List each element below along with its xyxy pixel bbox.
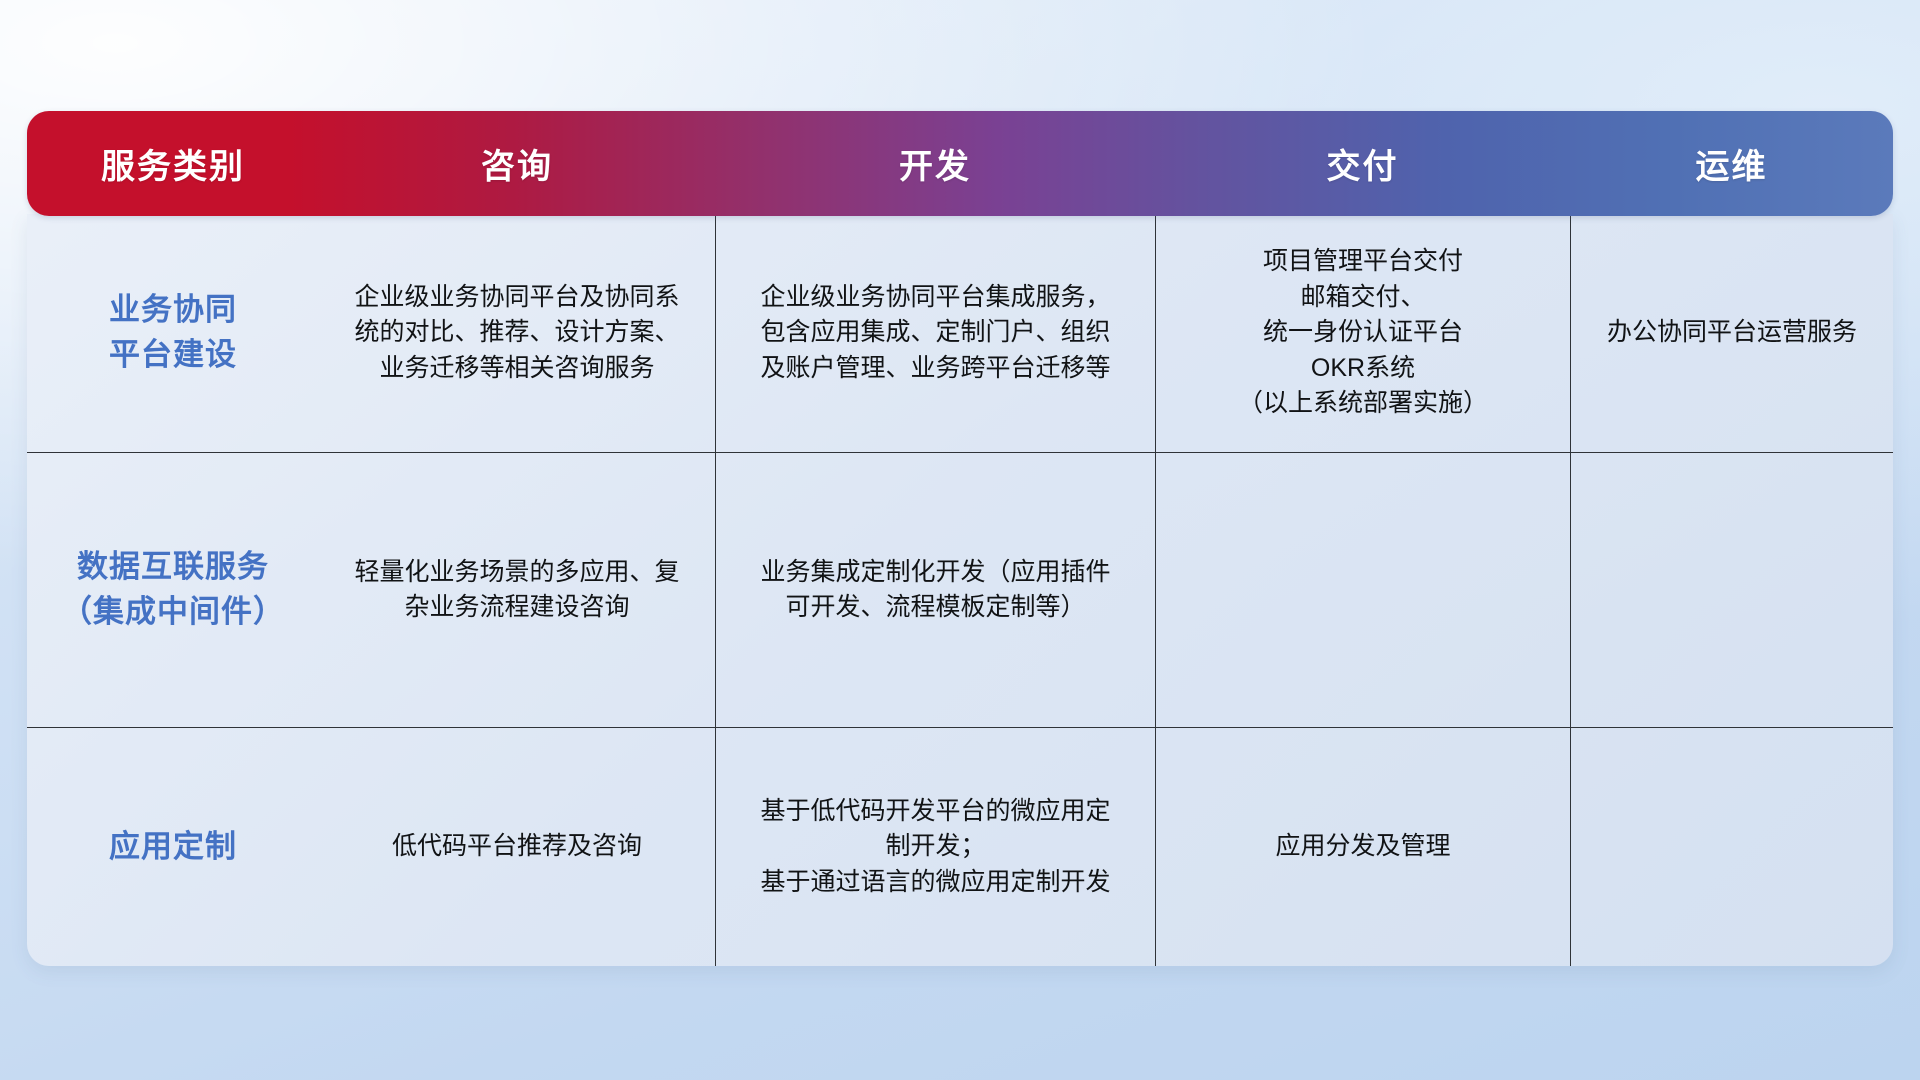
cell-consulting: 企业级业务协同平台及协同系 统的对比、推荐、设计方案、 业务迁移等相关咨询服务	[319, 214, 715, 452]
cell-category: 业务协同 平台建设	[27, 214, 319, 452]
table-row: 数据互联服务 （集成中间件） 轻量化业务场景的多应用、复 杂业务流程建设咨询 业…	[27, 453, 1893, 728]
cell-consulting: 低代码平台推荐及咨询	[319, 728, 715, 966]
column-header-consulting: 咨询	[319, 111, 715, 216]
cell-delivery	[1155, 453, 1570, 727]
cell-development: 企业级业务协同平台集成服务， 包含应用集成、定制门户、组织 及账户管理、业务跨平…	[715, 214, 1155, 452]
table-row: 应用定制 低代码平台推荐及咨询 基于低代码开发平台的微应用定 制开发； 基于通过…	[27, 728, 1893, 966]
cell-category: 数据互联服务 （集成中间件）	[27, 453, 319, 727]
cell-operations: 办公协同平台运营服务	[1570, 214, 1893, 452]
cell-development: 业务集成定制化开发（应用插件 可开发、流程模板定制等）	[715, 453, 1155, 727]
column-header-development: 开发	[715, 111, 1155, 216]
table-row: 业务协同 平台建设 企业级业务协同平台及协同系 统的对比、推荐、设计方案、 业务…	[27, 214, 1893, 453]
cell-development: 基于低代码开发平台的微应用定 制开发； 基于通过语言的微应用定制开发	[715, 728, 1155, 966]
column-header-delivery: 交付	[1155, 111, 1570, 216]
slide-canvas: 服务类别 咨询 开发 交付 运维 业务协同 平台建设 企业级业务协同平台及协同系…	[0, 0, 1920, 1080]
column-header-category: 服务类别	[27, 111, 319, 216]
cell-delivery: 项目管理平台交付 邮箱交付、 统一身份认证平台 OKR系统 （以上系统部署实施）	[1155, 214, 1570, 452]
column-header-operations: 运维	[1570, 111, 1893, 216]
cell-delivery: 应用分发及管理	[1155, 728, 1570, 966]
cell-operations	[1570, 453, 1893, 727]
cell-consulting: 轻量化业务场景的多应用、复 杂业务流程建设咨询	[319, 453, 715, 727]
table-header-row: 服务类别 咨询 开发 交付 运维	[27, 111, 1893, 216]
table-body: 业务协同 平台建设 企业级业务协同平台及协同系 统的对比、推荐、设计方案、 业务…	[27, 214, 1893, 966]
services-matrix-table: 服务类别 咨询 开发 交付 运维 业务协同 平台建设 企业级业务协同平台及协同系…	[27, 111, 1893, 966]
cell-operations	[1570, 728, 1893, 966]
cell-category: 应用定制	[27, 728, 319, 966]
